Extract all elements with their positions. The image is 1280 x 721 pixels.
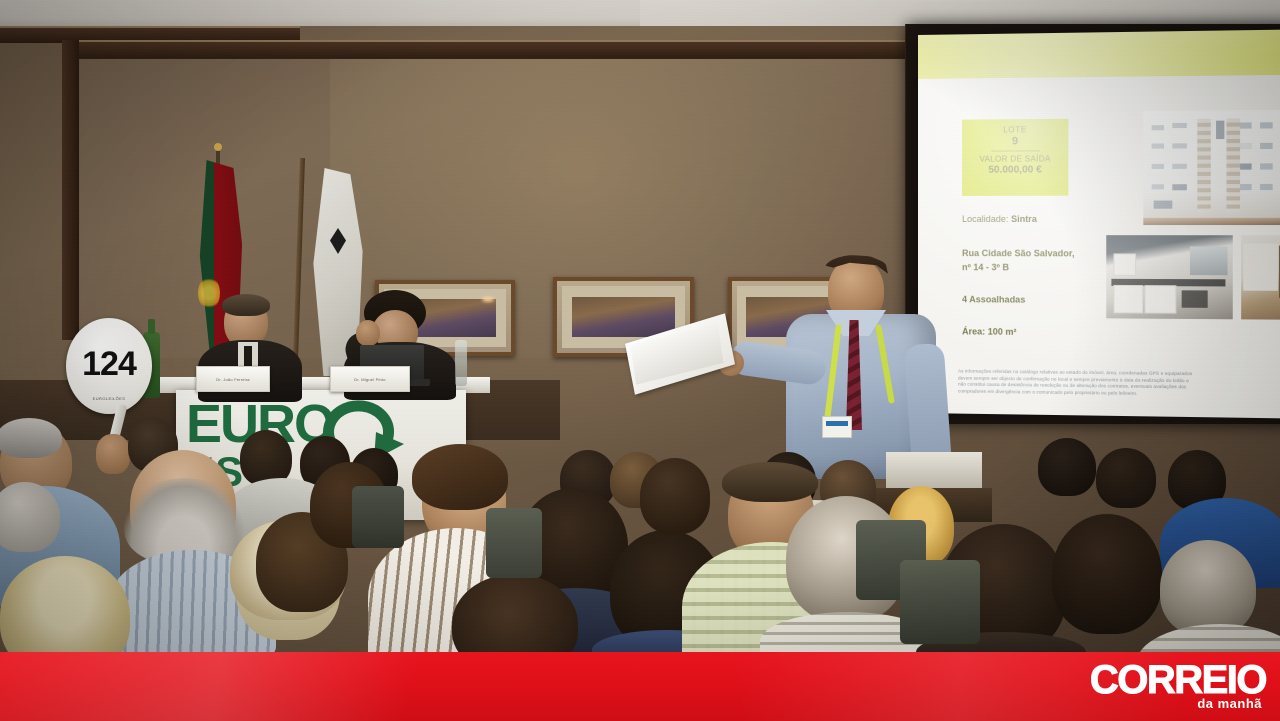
chair-back [352,486,404,548]
window [1172,184,1187,190]
paddle-disc: 124 EUROLEILÕES [66,318,152,414]
slide-price-value: 50.000,00 € [962,163,1068,176]
slide-lot-rule [991,150,1040,151]
window [1172,164,1187,169]
chair-back [486,508,542,578]
slide-address-line1: Rua Cidade São Salvador, [962,247,1075,259]
window [1154,201,1173,209]
kitchen-cabinet [1144,285,1176,314]
newspaper-banner: CORREIO da manhã [0,652,1280,721]
slide-rooms: 4 Assoalhadas [962,293,1025,305]
water-bottle-clear [455,340,467,386]
banner-sheen [0,652,644,721]
audience-head [1096,448,1156,508]
name-placard-right: Dr. Miguel Pinto [330,366,410,392]
picture-art [572,297,676,337]
slide-locality: Localidade: Sintra [962,213,1037,225]
hair [722,462,818,502]
window [1260,184,1273,190]
slide-photo-room [1241,235,1280,320]
wall-trim-horizontal-2 [62,40,942,59]
window [1172,123,1187,128]
slide-address-line2: nº 14 - 3º B [962,261,1009,273]
slide-photo-kitchen [1106,235,1233,319]
balcony-column [1197,119,1211,213]
building-base [1143,218,1280,225]
head [1160,540,1256,636]
window [1152,164,1164,169]
paddle-imprint: EUROLEILÕES [66,396,152,401]
hand [356,320,380,346]
hair [222,294,270,316]
window [1239,143,1252,149]
kitchen-upper-cabinet [1114,253,1136,275]
chair-back [900,560,980,644]
slide-header-band [918,29,1280,79]
trim-highlight-2 [62,40,942,42]
photograph-canvas: LOTE 9 VALOR DE SAÍDA 50.000,00 € Locali… [0,0,1280,721]
slide-area: Área: 100 m² [962,325,1016,338]
slide-locality-value: Sintra [1011,214,1037,224]
window [1152,125,1164,130]
lectern [886,452,982,492]
audience-head [1038,438,1096,496]
audience-head [1052,514,1162,634]
newspaper-logo-main: CORREIO [1090,660,1266,700]
lamp-reflection [482,297,494,302]
kitchen-cabinet [1114,285,1144,314]
window [1239,163,1252,169]
paddle-number: 124 [82,345,136,384]
slide-lot-number: 9 [962,134,1068,148]
slide-lot-label: LOTE [962,119,1068,135]
slide-locality-label: Localidade: [962,214,1008,224]
window [1260,122,1273,128]
trim-highlight [0,26,300,28]
slide-price-label: VALOR DE SAÍDA [962,154,1068,164]
bidder-hand [96,434,130,474]
placard-name: Dr. João Ferreira [197,367,269,382]
name-placard-left: Dr. João Ferreira [196,366,270,392]
window [1152,143,1164,148]
slide-lot-box: LOTE 9 VALOR DE SAÍDA 50.000,00 € [962,119,1068,196]
window [1239,122,1252,128]
balcony-column [1226,118,1240,212]
projection-screen: LOTE 9 VALOR DE SAÍDA 50.000,00 € Locali… [918,29,1280,418]
kitchen-window [1189,247,1227,276]
kitchen-appliance [1182,290,1207,307]
window [1172,143,1187,148]
audience-hair [0,418,62,458]
slide-photo-building [1143,110,1280,225]
window [1260,163,1273,169]
audience-head [640,458,710,534]
placard-name: Dr. Miguel Pinto [331,367,409,382]
id-badge [822,416,852,438]
window [1216,121,1224,139]
room-wall [1244,244,1278,291]
wall-trim-vertical [62,40,79,340]
window [1152,184,1164,189]
newspaper-logo: CORREIO da manhã [1090,660,1266,711]
slide-disclaimer: As informações referidas no catálogo rel… [958,368,1280,399]
hair [412,444,508,510]
window [1239,184,1252,190]
window [1260,143,1273,149]
